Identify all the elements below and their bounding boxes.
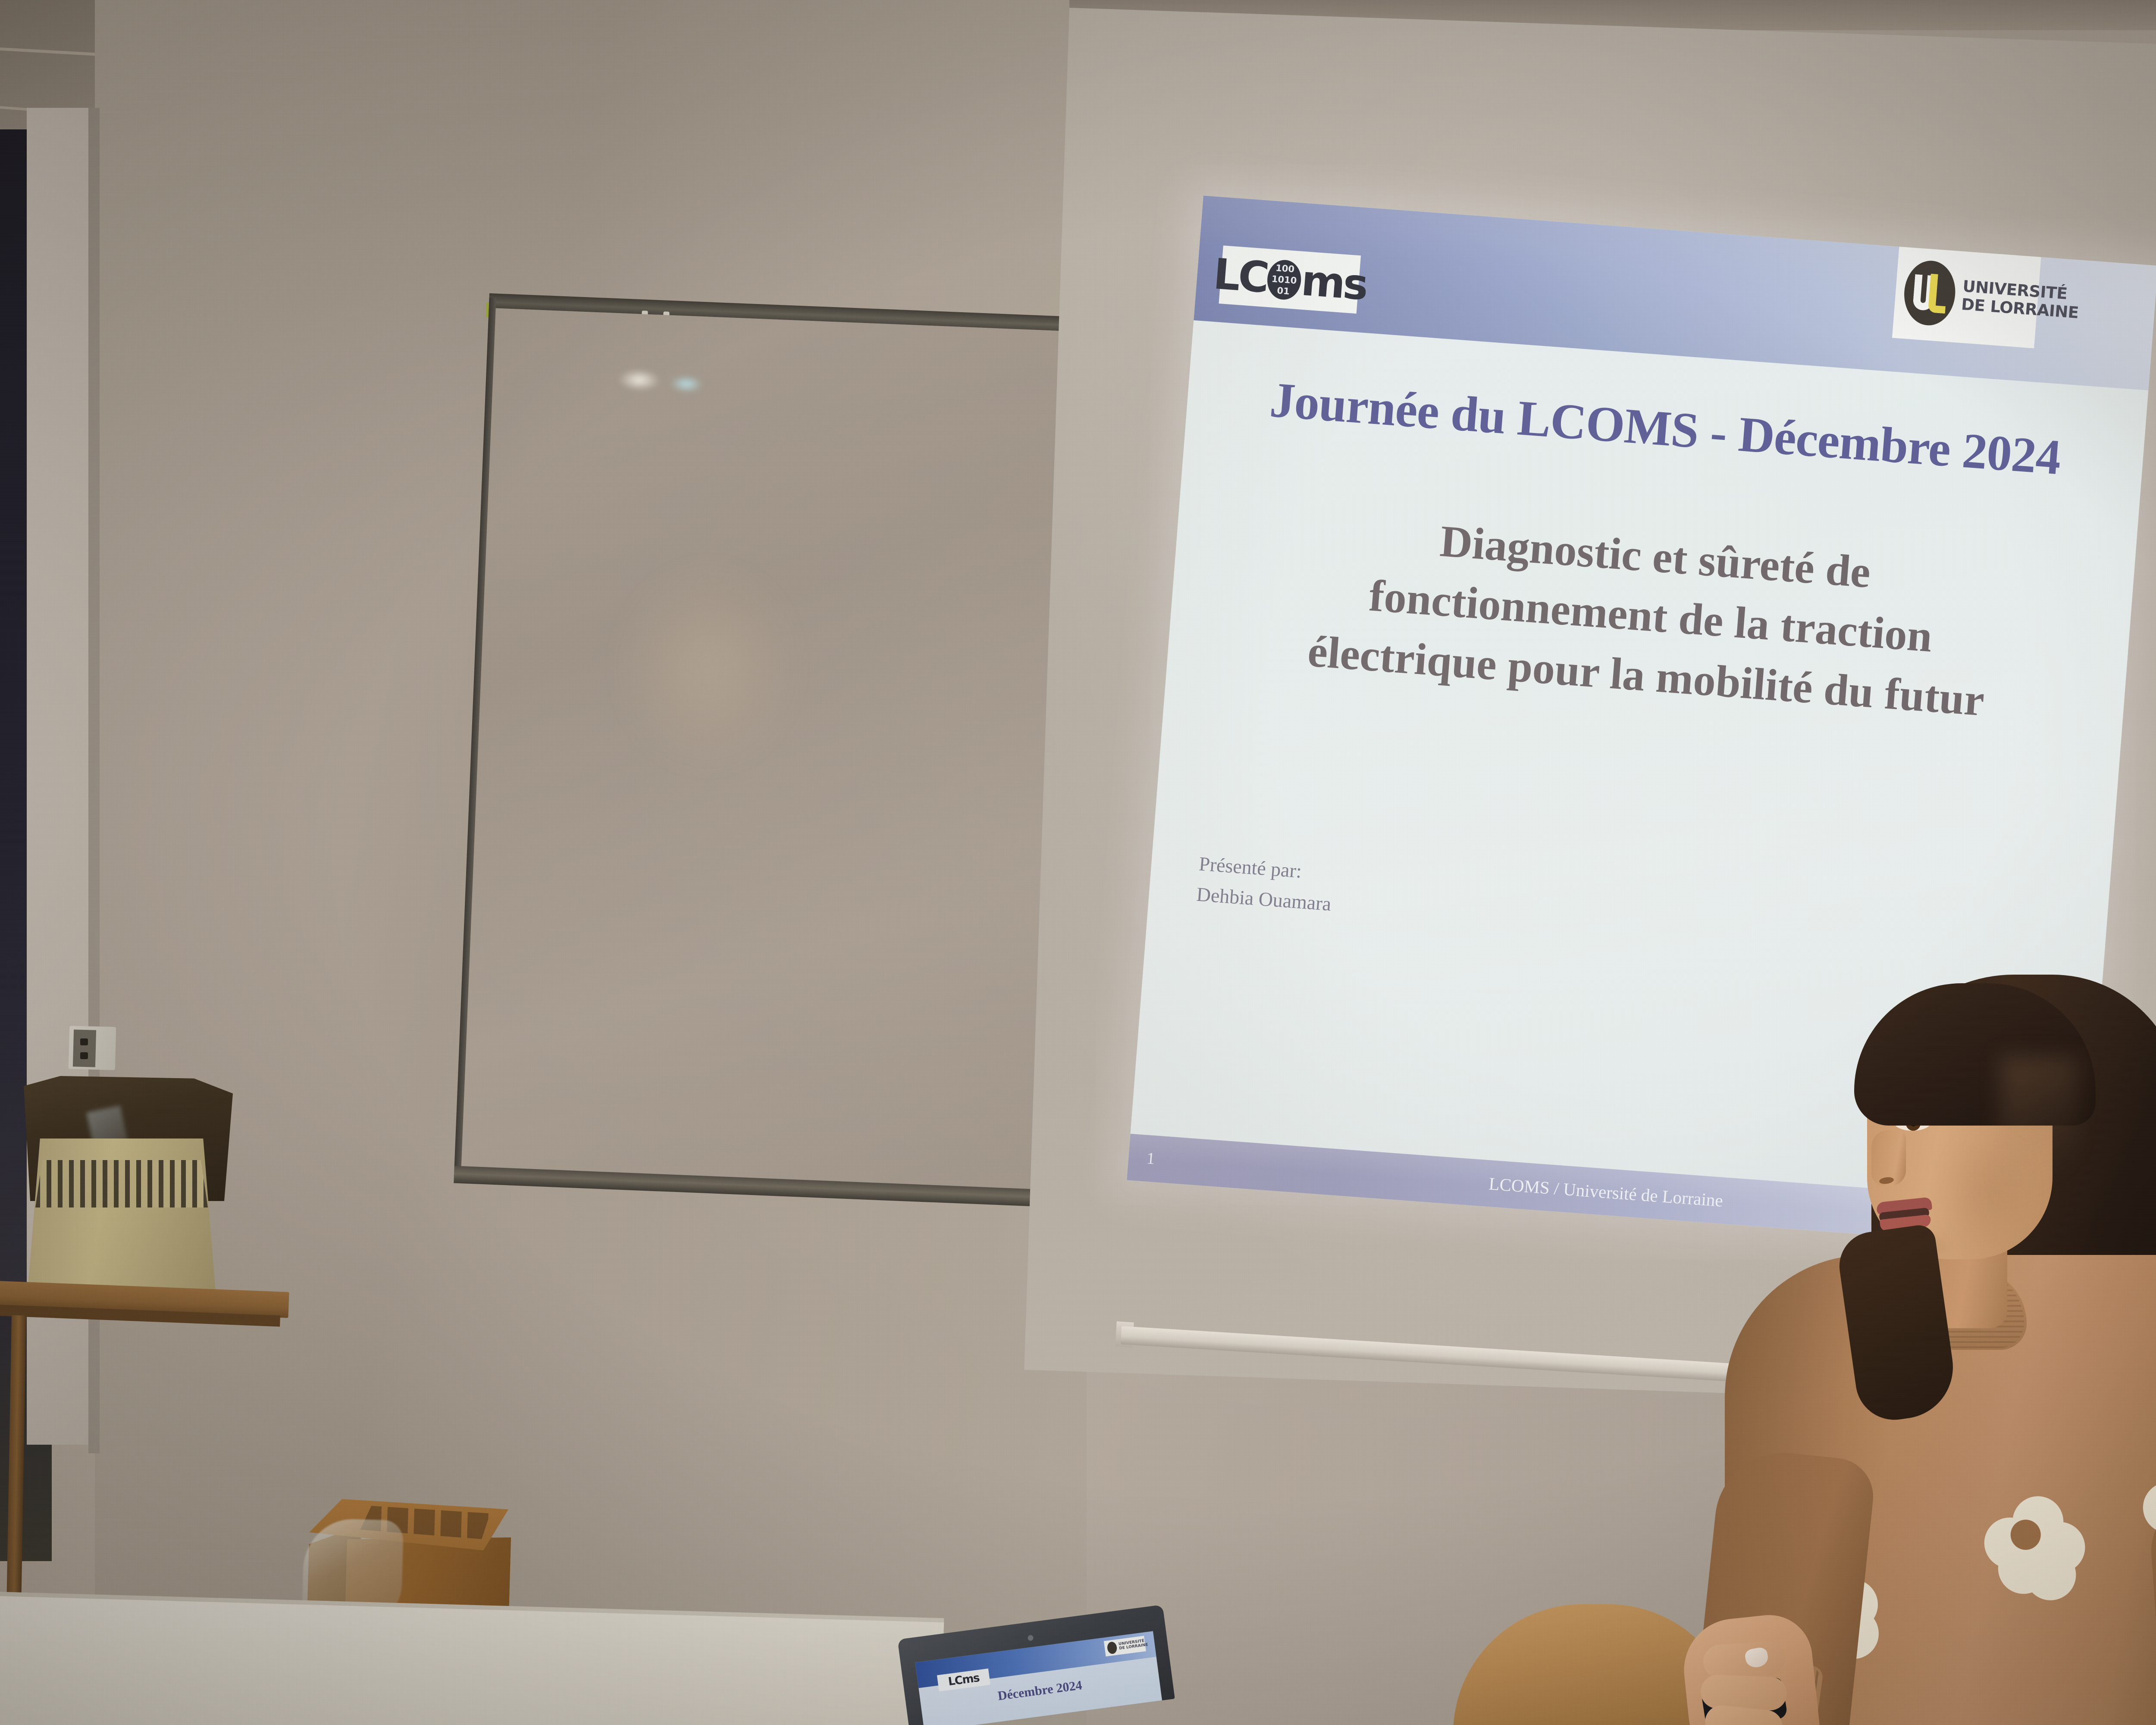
slide-presenter-block: Présenté par: Dehbia Ouamara (1195, 848, 1716, 947)
whiteboard-light-reflection (619, 369, 659, 391)
slide-subtitle: Diagnostic et sûreté de fonctionnement d… (1231, 497, 2071, 736)
ul-monogram-mark (1902, 259, 1958, 327)
slide-title: Journée du LCOMS - Décembre 2024 (1186, 365, 2145, 492)
doorway-gap (0, 129, 27, 1294)
sweater-flower (1977, 1490, 2098, 1611)
whiteboard (452, 293, 1080, 1243)
ul-logo-text: UNIVERSITÉ DE LORRAINE (1961, 277, 2081, 322)
universite-de-lorraine-monogram-icon: UNIVERSITÉ DE LORRAINE (1892, 243, 2041, 348)
presenter (1699, 927, 2156, 1725)
whiteboard-reflection (617, 564, 798, 769)
lcoms-logo-text: LC 100 1010 01 ms (1212, 253, 1367, 306)
whiteboard-surface (459, 308, 1073, 1191)
lcoms-binary-globe-icon: LC 100 1010 01 ms (1219, 245, 1361, 314)
whiteboard-light-reflection (671, 376, 702, 392)
lcoms-globe-o: 100 1010 01 (1266, 257, 1303, 301)
seminar-room-photo: LC 100 1010 01 ms (0, 0, 2156, 1725)
